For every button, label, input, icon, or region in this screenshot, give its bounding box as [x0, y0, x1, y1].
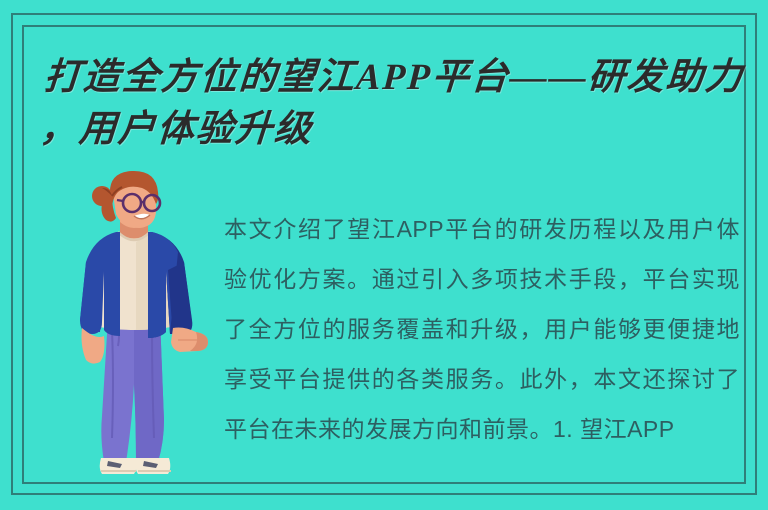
title-line-2: ，用户体验升级: [38, 104, 768, 156]
title-line-1: 打造全方位的望江APP平台——研发助力: [42, 52, 768, 104]
poster-canvas: 打造全方位的望江APP平台——研发助力 ，用户体验升级 本文介绍了望江APP平台…: [0, 0, 768, 510]
person-with-glasses-illustration: [60, 170, 210, 482]
page-title: 打造全方位的望江APP平台——研发助力 ，用户体验升级: [44, 52, 768, 156]
body-paragraph: 本文介绍了望江APP平台的研发历程以及用户体验优化方案。通过引入多项技术手段，平…: [224, 204, 740, 454]
